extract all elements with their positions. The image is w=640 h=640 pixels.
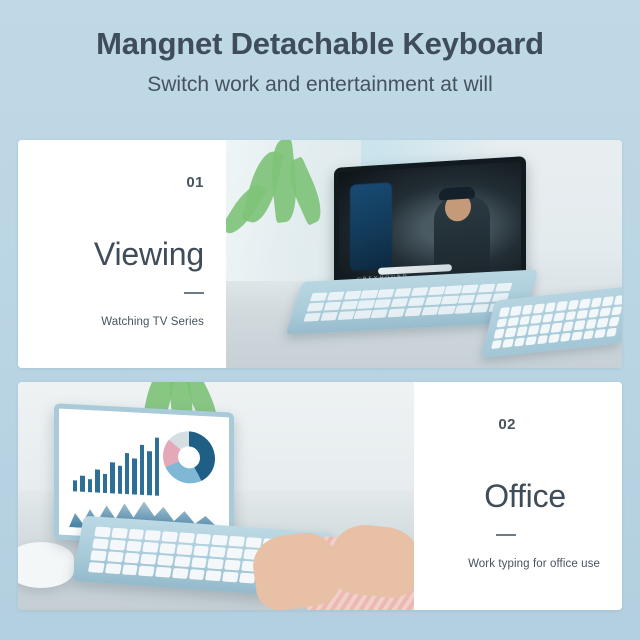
feature-note: Watching TV Series [101, 316, 204, 328]
product-banner: Mangnet Detachable Keyboard Switch work … [0, 0, 640, 640]
feature-panel-viewing: 01 Viewing Watching TV Series GRE [18, 140, 622, 368]
keyboard-keys [303, 283, 512, 322]
cup-object [18, 542, 74, 588]
photo-office-scene [18, 382, 414, 610]
feature-note: Work typing for office use [468, 558, 600, 570]
divider-rule [496, 534, 516, 536]
page-title: Mangnet Detachable Keyboard [0, 22, 640, 66]
caption-block-02: 02 Office Work typing for office use [414, 382, 622, 610]
header: Mangnet Detachable Keyboard Switch work … [0, 22, 640, 100]
divider-rule [184, 292, 204, 294]
video-scene-light [350, 182, 392, 271]
bar-chart [73, 431, 159, 496]
donut-chart [163, 430, 215, 485]
caption-block-01: 01 Viewing Watching TV Series [18, 140, 226, 368]
hand-right [329, 522, 414, 601]
keyboard-detached-keys [491, 295, 622, 349]
feature-number: 02 [498, 416, 516, 433]
feature-number: 01 [186, 174, 204, 191]
photo-viewing-scene: GREYHOUND tv [226, 140, 622, 368]
page-subtitle: Switch work and entertainment at will [0, 70, 640, 100]
feature-heading: Viewing [94, 236, 204, 273]
video-scene-hat [439, 186, 475, 200]
feature-panel-office: 02 Office Work typing for office use [18, 382, 622, 610]
feature-heading: Office [484, 478, 566, 515]
